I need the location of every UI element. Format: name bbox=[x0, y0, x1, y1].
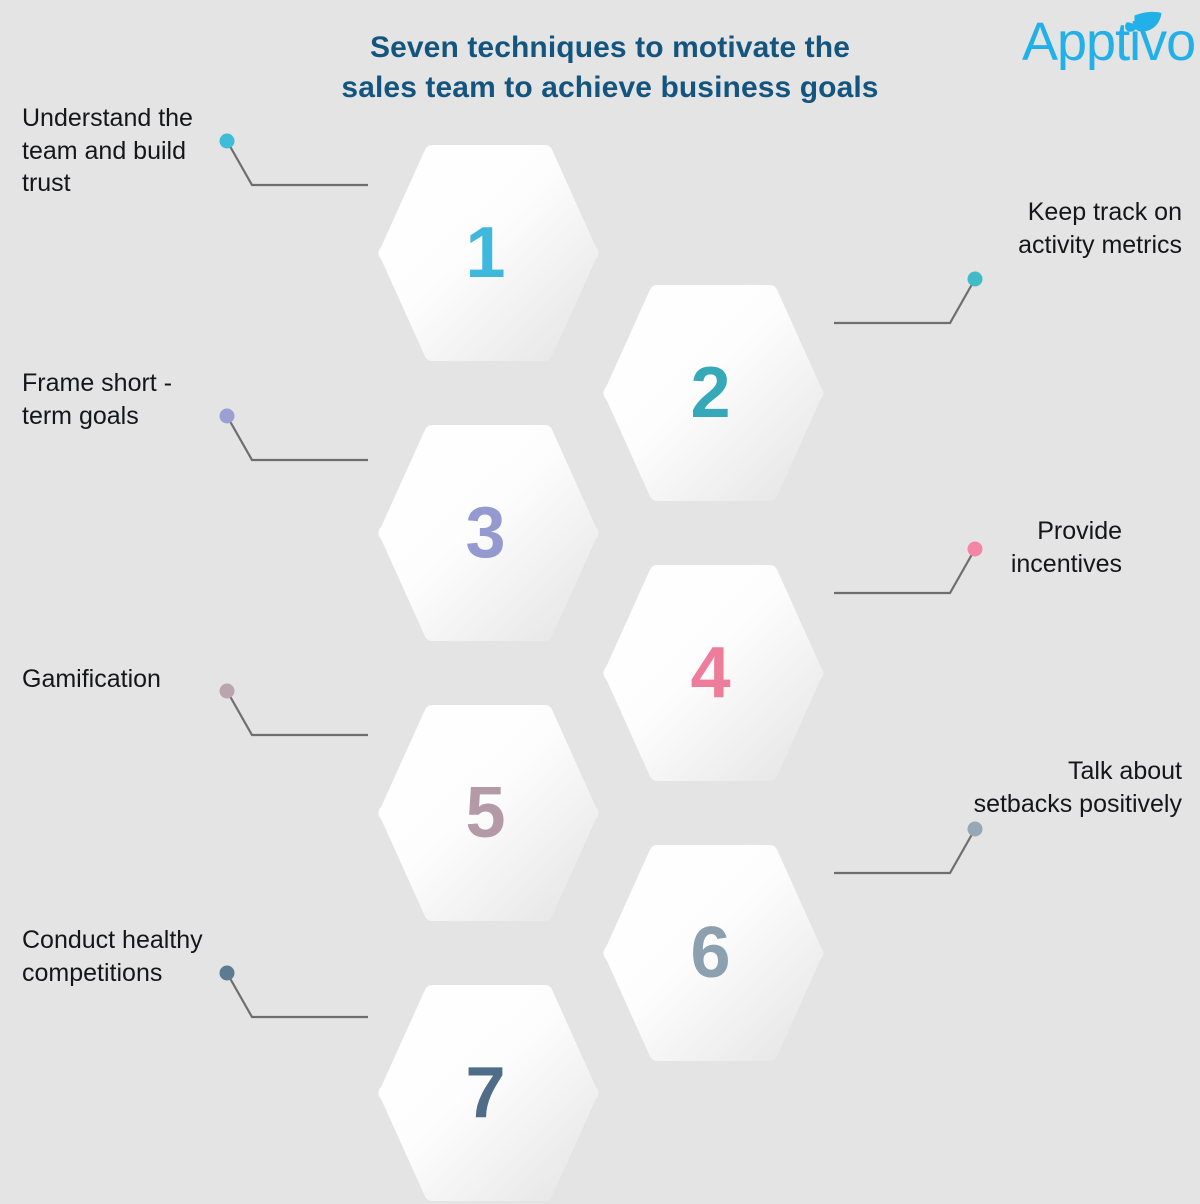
hexagon-step-2[interactable]: 2 bbox=[601, 282, 826, 504]
hexagon-number-1: 1 bbox=[376, 142, 601, 364]
hexagon-number-3: 3 bbox=[376, 422, 601, 644]
hexagon-step-4[interactable]: 4 bbox=[601, 562, 826, 784]
step-label-3: Frame short - term goals bbox=[22, 367, 232, 432]
hexagon-step-6[interactable]: 6 bbox=[601, 842, 826, 1064]
connector-path-5 bbox=[227, 691, 368, 735]
connector-line-3 bbox=[215, 405, 380, 475]
infographic-canvas: Apptivo Seven techniques to motivate the… bbox=[0, 0, 1200, 1200]
hexagon-number-7: 7 bbox=[376, 982, 601, 1204]
connector-line-2 bbox=[822, 268, 987, 338]
connector-dot-6 bbox=[968, 822, 983, 837]
hexagon-number-6: 6 bbox=[601, 842, 826, 1064]
connector-path-2 bbox=[834, 279, 975, 323]
connector-dot-2 bbox=[968, 272, 983, 287]
step-label-6: Talk about setbacks positively bbox=[900, 755, 1182, 820]
connector-path-6 bbox=[834, 829, 975, 873]
step-label-1: Understand the team and build trust bbox=[22, 102, 232, 200]
connector-line-5 bbox=[215, 680, 380, 750]
svg-text:Apptivo: Apptivo bbox=[1022, 12, 1194, 70]
hexagon-number-5: 5 bbox=[376, 702, 601, 924]
hexagon-number-2: 2 bbox=[601, 282, 826, 504]
step-label-7: Conduct healthy competitions bbox=[22, 924, 252, 989]
hexagon-number-4: 4 bbox=[601, 562, 826, 784]
title-line-2: sales team to achieve business goals bbox=[250, 68, 970, 108]
connector-path-1 bbox=[227, 141, 368, 185]
hexagon-step-1[interactable]: 1 bbox=[376, 142, 601, 364]
hexagon-step-7[interactable]: 7 bbox=[376, 982, 601, 1204]
hexagon-step-3[interactable]: 3 bbox=[376, 422, 601, 644]
step-label-5: Gamification bbox=[22, 663, 237, 696]
apptivo-logo-svg: Apptivo bbox=[1022, 8, 1194, 70]
step-label-2: Keep track on activity metrics bbox=[930, 196, 1182, 261]
connector-line-1 bbox=[215, 130, 380, 200]
connector-path-3 bbox=[227, 416, 368, 460]
title-line-1: Seven techniques to motivate the bbox=[250, 28, 970, 68]
hexagon-step-5[interactable]: 5 bbox=[376, 702, 601, 924]
apptivo-logo: Apptivo bbox=[1022, 8, 1194, 70]
step-label-4: Provide incentives bbox=[930, 515, 1122, 580]
connector-line-6 bbox=[822, 818, 987, 888]
page-title: Seven techniques to motivate the sales t… bbox=[250, 28, 970, 107]
